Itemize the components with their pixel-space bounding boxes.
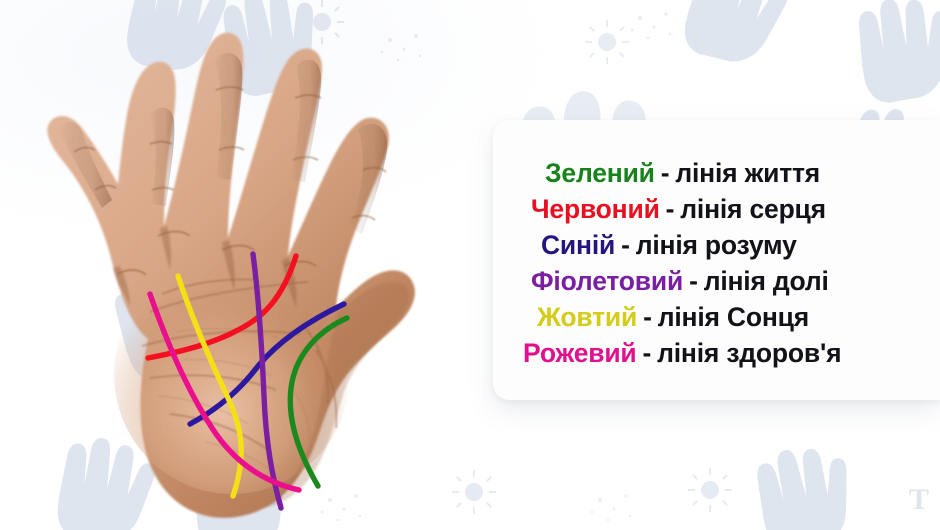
legend-color-word-red: Червоний <box>531 192 660 227</box>
legend-color-word-pink: Рожевий <box>523 336 637 371</box>
legend-row: Рожевий - лінія здоров'я <box>523 336 930 371</box>
legend-description-fate: лінія долі <box>704 264 829 299</box>
legend-separator: - <box>637 300 658 335</box>
legend-separator: - <box>683 264 704 299</box>
legend-description-sun: лінія Сонця <box>658 300 809 335</box>
legend-row: Червоний - лінія серця <box>531 192 930 227</box>
infographic-canvas: Зелений - лінія життя Червоний - лінія с… <box>0 0 940 530</box>
legend-row: Жовтий - лінія Сонця <box>537 300 930 335</box>
legend-card: Зелений - лінія життя Червоний - лінія с… <box>493 120 940 400</box>
legend-color-word-yellow: Жовтий <box>537 300 637 335</box>
legend-separator: - <box>637 336 658 371</box>
legend-color-word-blue: Синій <box>541 228 615 263</box>
legend-color-word-purple: Фіолетовий <box>531 264 683 299</box>
legend-separator: - <box>660 192 681 227</box>
legend-description-life: лінія життя <box>675 156 820 191</box>
legend-separator: - <box>655 156 676 191</box>
legend-description-head: лінія розуму <box>636 228 797 263</box>
legend-description-health: лінія здоров'я <box>657 336 841 371</box>
watermark-logo: T <box>870 480 928 520</box>
legend-row: Фіолетовий - лінія долі <box>531 264 930 299</box>
legend-description-heart: лінія серця <box>680 192 826 227</box>
legend-color-word-green: Зелений <box>545 156 655 191</box>
legend-row: Синій - лінія розуму <box>541 228 930 263</box>
open-palm-photo <box>0 0 500 530</box>
legend-row: Зелений - лінія життя <box>545 156 930 191</box>
legend-separator: - <box>615 228 636 263</box>
legend-list: Зелений - лінія життя Червоний - лінія с… <box>515 156 930 371</box>
